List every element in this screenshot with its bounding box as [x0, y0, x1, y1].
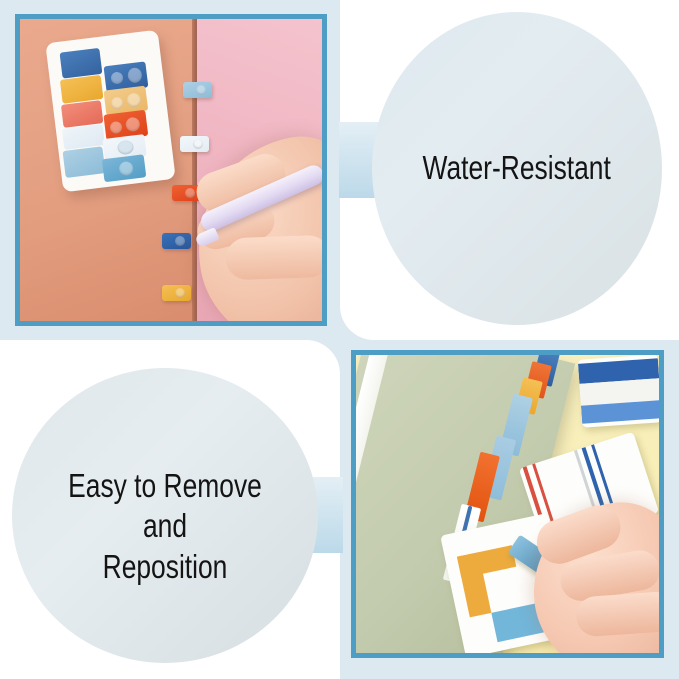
tab-dot — [126, 92, 142, 108]
tab-dot — [125, 117, 141, 133]
tab-dot — [127, 67, 143, 84]
card-tab-sky-dot — [102, 154, 146, 182]
tab-sheet-card — [45, 30, 175, 193]
card-tab-yellow — [60, 75, 104, 104]
notebook-tabs-photo-inner — [20, 19, 322, 321]
ring-knuckle — [575, 591, 659, 638]
product-feature-collage: Water-Resistant Easy to Remove and Repos… — [0, 0, 679, 679]
tab-dot — [117, 140, 135, 156]
tab-dot — [118, 161, 134, 177]
callout-easy-to-remove: Easy to Remove and Reposition — [12, 368, 318, 663]
page-flag-clear — [180, 136, 209, 152]
notebook-spine — [192, 19, 197, 321]
tab-dot — [109, 121, 122, 134]
desk-tabs-photo — [351, 350, 664, 658]
notebook-tabs-photo — [15, 14, 327, 326]
card-tab-blue — [60, 48, 103, 79]
callout-water-resistant: Water-Resistant — [372, 12, 662, 325]
tab-sheet-blue — [578, 355, 659, 428]
callout-water-resistant-label: Water-Resistant — [423, 148, 611, 188]
tab-dot — [110, 71, 123, 84]
tab-dot — [110, 96, 123, 109]
page-flag-yellow — [162, 285, 191, 301]
desk-tabs-photo-inner — [356, 355, 659, 653]
thumb — [225, 235, 322, 281]
callout-easy-to-remove-label: Easy to Remove and Reposition — [43, 466, 288, 587]
page-flag-light-blue — [183, 82, 212, 98]
page-flag-blue — [162, 233, 191, 249]
notebook-pages — [356, 355, 399, 641]
card-tab-light-blue — [63, 146, 106, 178]
